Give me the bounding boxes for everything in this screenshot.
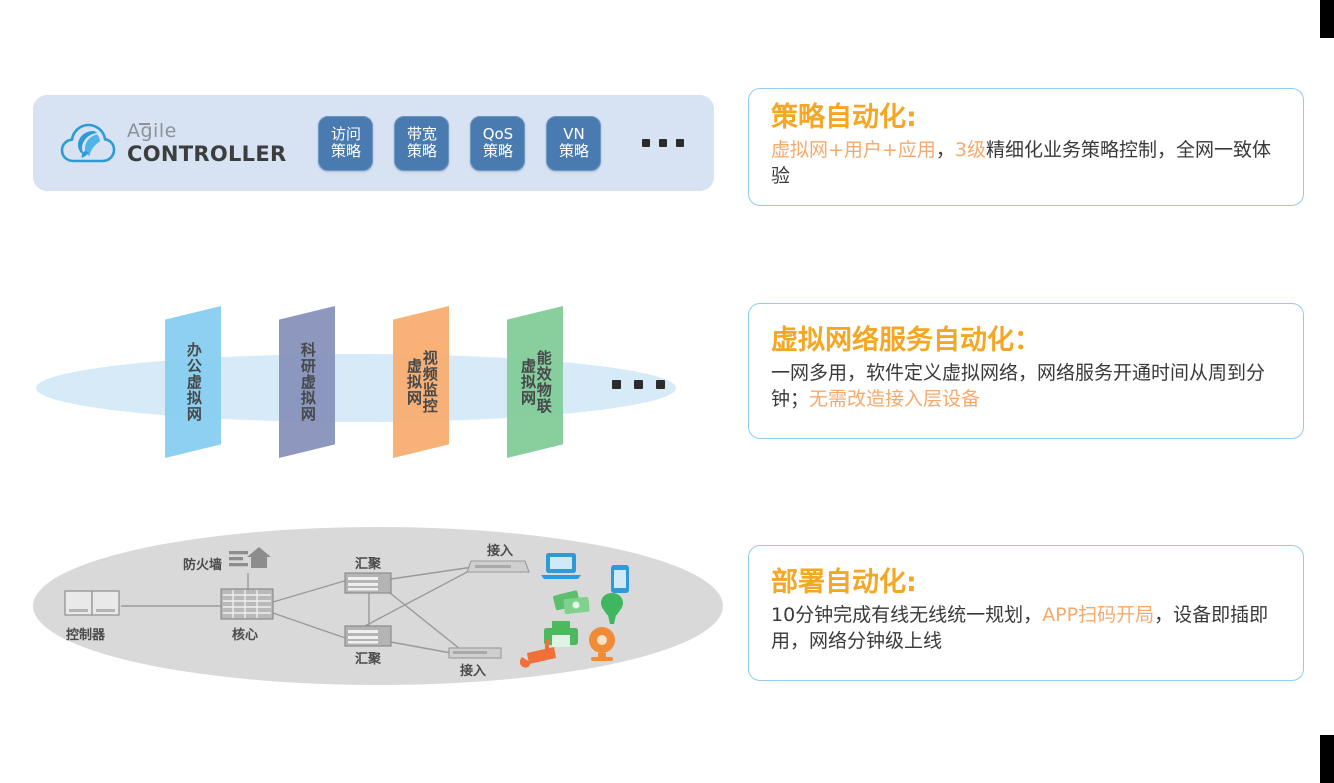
vnet-more-ellipsis-icon <box>612 380 665 389</box>
policy-chip-group: 访问 策略 带宽 策略 QoS 策略 VN 策略 <box>318 116 684 171</box>
vnet-plane-video-surveillance: 视频监控 虚拟网 <box>393 306 449 458</box>
access-switch-top-node-icon <box>467 561 529 572</box>
chip-line-1: QoS <box>483 126 514 143</box>
top-right-black-bar <box>1320 0 1334 38</box>
slide-canvas: Agile CONTROLLER 访问 策略 带宽 策略 QoS 策略 VN 策… <box>0 0 1334 783</box>
physical-network-ellipse <box>36 354 676 422</box>
brand-text: Agile CONTROLLER <box>127 122 286 165</box>
chip-line-2: 策略 <box>559 143 589 160</box>
network-topology-diagram: 控制器 防火墙 核心 汇聚 汇聚 接入 接入 <box>33 527 723 692</box>
firewall-node-icon <box>229 547 271 568</box>
policy-chip-access[interactable]: 访问 策略 <box>318 116 373 171</box>
vnet-plane-label-main: 科研虚拟网 <box>299 342 315 422</box>
tablet-icon <box>611 565 629 593</box>
card-body-run-1: 无需改造接入层设备 <box>809 388 980 410</box>
topo-label-controller: 控制器 <box>66 624 105 643</box>
card-title: 策略自动化: <box>771 101 1285 135</box>
topo-label-aggregation-top: 汇聚 <box>355 553 381 572</box>
callout-card-policy-automation: 策略自动化: 虚拟网+用户+应用，3级精细化业务策略控制，全网一致体验 <box>748 88 1304 206</box>
callout-card-vnet-service-automation: 虚拟网络服务自动化： 一网多用，软件定义虚拟网络，网络服务开通时间从周到分钟；无… <box>748 303 1304 439</box>
topo-label-access-top: 接入 <box>487 540 513 559</box>
card-title: 部署自动化: <box>771 566 1285 600</box>
chip-line-1: 访问 <box>331 126 361 143</box>
vnet-plane-office: 办公虚拟网 <box>165 306 221 458</box>
vnet-plane-research: 科研虚拟网 <box>279 306 335 458</box>
vnet-plane-label-sub: 虚拟网 <box>405 358 421 406</box>
vnet-plane-label-sub: 虚拟网 <box>519 358 535 406</box>
core-switch-node-icon <box>221 589 273 619</box>
policy-chip-vn[interactable]: VN 策略 <box>546 116 601 171</box>
chip-line-1: VN <box>563 126 584 143</box>
card-body: 虚拟网+用户+应用，3级精细化业务策略控制，全网一致体验 <box>771 137 1285 189</box>
topology-graphics <box>33 527 723 692</box>
card-body-run-1: APP扫码开局 <box>1042 604 1154 626</box>
vnet-plane-energy-iot: 能效物联 虚拟网 <box>507 306 563 458</box>
card-body-run-1: ， <box>936 139 955 161</box>
policy-more-ellipsis-icon <box>642 139 684 147</box>
topo-label-firewall: 防火墙 <box>183 554 222 573</box>
chip-line-2: 策略 <box>331 143 361 160</box>
aggregation-switch-bottom-node-icon <box>345 626 391 646</box>
agile-controller-logo: Agile CONTROLLER <box>59 119 286 167</box>
card-body: 10分钟完成有线无线统一规划，APP扫码开局，设备即插即用，网络分钟级上线 <box>771 602 1285 654</box>
policy-chip-bandwidth[interactable]: 带宽 策略 <box>394 116 449 171</box>
cloud-icon <box>59 119 117 167</box>
card-body-run-0: 10分钟完成有线无线统一规划， <box>771 604 1042 626</box>
chip-line-2: 策略 <box>483 143 513 160</box>
chip-line-1: 带宽 <box>407 126 437 143</box>
virtual-network-planes-diagram: 办公虚拟网 科研虚拟网 视频监控 虚拟网 能效物联 虚拟网 <box>20 288 720 493</box>
bottom-right-black-bar <box>1320 735 1334 783</box>
topo-label-aggregation-bottom: 汇聚 <box>355 648 381 667</box>
card-body-run-0: 虚拟网+用户+应用 <box>771 139 936 161</box>
card-body: 一网多用，软件定义虚拟网络，网络服务开通时间从周到分钟；无需改造接入层设备 <box>771 360 1285 412</box>
bulb-icon <box>601 593 623 624</box>
callout-card-deployment-automation: 部署自动化: 10分钟完成有线无线统一规划，APP扫码开局，设备即插即用，网络分… <box>748 545 1304 681</box>
vnet-plane-label-main: 办公虚拟网 <box>185 342 201 422</box>
vnet-plane-label-main: 视频监控 <box>421 350 437 414</box>
topo-label-core: 核心 <box>232 624 258 643</box>
webcam-icon <box>589 627 615 661</box>
aggregation-switch-top-node-icon <box>345 573 391 593</box>
card-title: 虚拟网络服务自动化： <box>771 324 1285 358</box>
brand-agile: Agile <box>127 122 177 141</box>
controller-node-icon <box>65 591 119 615</box>
chip-line-2: 策略 <box>407 143 437 160</box>
laptop-icon <box>541 553 581 579</box>
brand-controller: CONTROLLER <box>127 144 286 165</box>
cash-icon <box>553 590 590 614</box>
card-body-run-2: 3级 <box>955 139 986 161</box>
access-switch-bottom-node-icon <box>449 648 501 658</box>
vnet-plane-label-main: 能效物联 <box>535 350 551 414</box>
printer-icon <box>544 621 578 647</box>
policy-chip-qos[interactable]: QoS 策略 <box>470 116 525 171</box>
topo-label-access-bottom: 接入 <box>460 660 486 679</box>
agile-controller-bar: Agile CONTROLLER 访问 策略 带宽 策略 QoS 策略 VN 策… <box>33 95 714 191</box>
